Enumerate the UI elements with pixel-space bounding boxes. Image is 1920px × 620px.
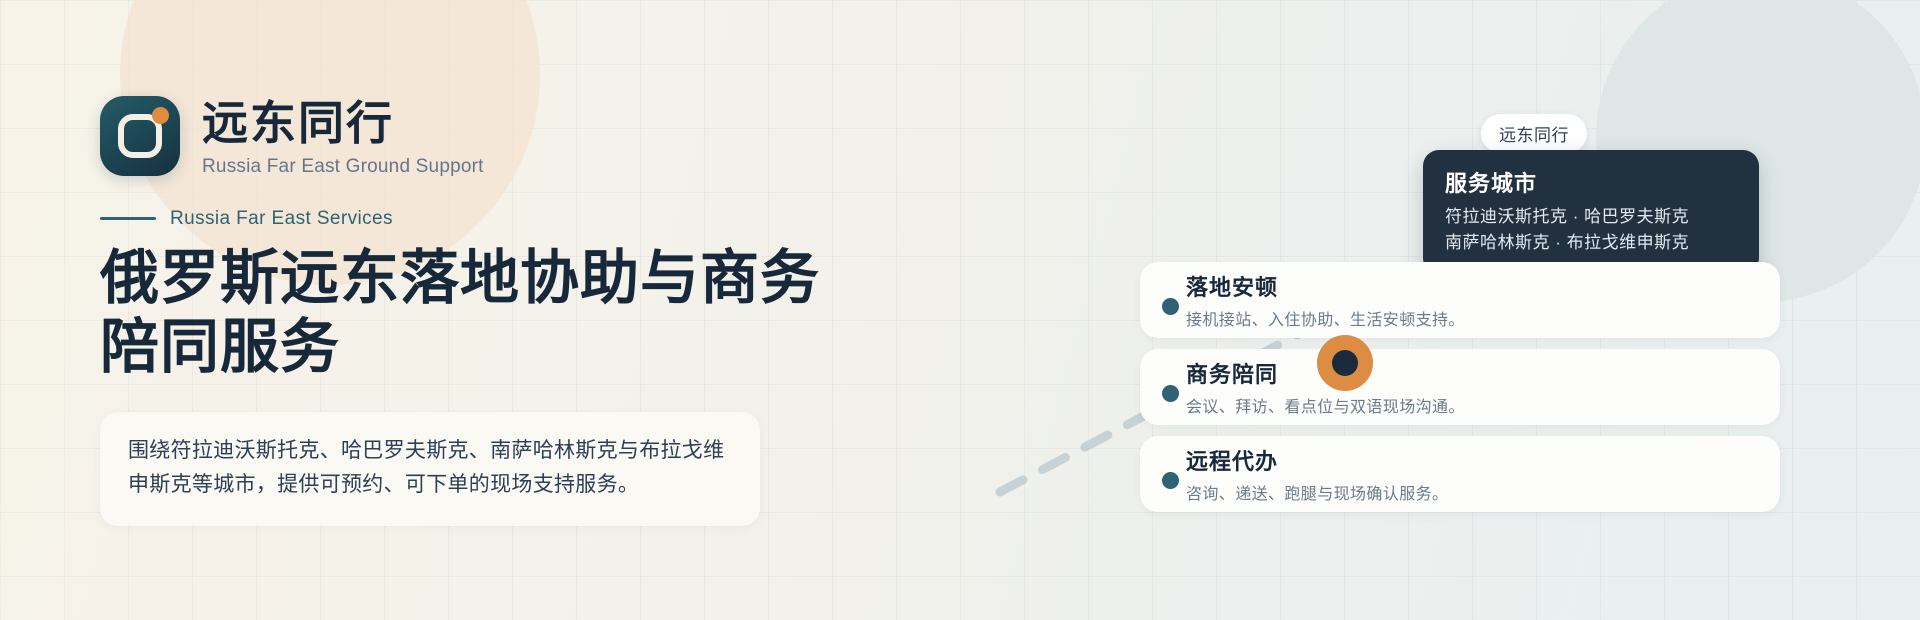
- eyebrow-dash-icon: [100, 217, 156, 220]
- service-card-title: 落地安顿: [1186, 274, 1756, 302]
- service-card-title: 商务陪同: [1186, 361, 1756, 389]
- brand-name: 远东同行: [202, 98, 484, 150]
- hero-banner: 远东同行 Russia Far East Ground Support Russ…: [0, 0, 1920, 620]
- cursor-dot-icon: [1332, 350, 1358, 376]
- tooltip-cities-line-2: 南萨哈林斯克 · 布拉戈维申斯克: [1445, 230, 1737, 256]
- bullet-dot-icon: [1162, 385, 1179, 402]
- page-title: 俄罗斯远东落地协助与商务陪同服务: [100, 244, 820, 382]
- brand-lockup: 远东同行 Russia Far East Ground Support: [100, 96, 920, 178]
- brand-text-block: 远东同行 Russia Far East Ground Support: [202, 96, 484, 178]
- service-card-title: 远程代办: [1186, 448, 1756, 476]
- service-card-list: 落地安顿 接机接站、入住协助、生活安顿支持。 商务陪同 会议、拜访、看点位与双语…: [1140, 262, 1780, 523]
- section-eyebrow: Russia Far East Services: [100, 208, 920, 230]
- brand-logo-icon: [100, 96, 180, 176]
- description-text: 围绕符拉迪沃斯托克、哈巴罗夫斯克、南萨哈林斯克与布拉戈维申斯克等城市，提供可预约…: [128, 434, 732, 502]
- tooltip-title: 服务城市: [1445, 166, 1737, 198]
- brand-chip-badge[interactable]: 远东同行: [1481, 114, 1587, 153]
- service-cities-tooltip: 服务城市 符拉迪沃斯托克 · 哈巴罗夫斯克 南萨哈林斯克 · 布拉戈维申斯克: [1423, 150, 1759, 274]
- hero-left-column: 远东同行 Russia Far East Ground Support Russ…: [100, 96, 920, 526]
- bullet-dot-icon: [1162, 298, 1179, 315]
- service-card[interactable]: 商务陪同 会议、拜访、看点位与双语现场沟通。: [1140, 349, 1780, 425]
- cursor-pointer-indicator: [1317, 335, 1373, 391]
- brand-tagline: Russia Far East Ground Support: [202, 156, 484, 178]
- service-card-description: 咨询、递送、跑腿与现场确认服务。: [1186, 480, 1756, 504]
- tooltip-cities-line-1: 符拉迪沃斯托克 · 哈巴罗夫斯克: [1445, 204, 1737, 230]
- service-card[interactable]: 远程代办 咨询、递送、跑腿与现场确认服务。: [1140, 436, 1780, 512]
- service-card-description: 接机接站、入住协助、生活安顿支持。: [1186, 306, 1756, 330]
- service-card[interactable]: 落地安顿 接机接站、入住协助、生活安顿支持。: [1140, 262, 1780, 338]
- description-card: 围绕符拉迪沃斯托克、哈巴罗夫斯克、南萨哈林斯克与布拉戈维申斯克等城市，提供可预约…: [100, 412, 760, 526]
- logo-accent-dot-icon: [152, 107, 169, 124]
- bullet-dot-icon: [1162, 472, 1179, 489]
- eyebrow-label: Russia Far East Services: [170, 208, 393, 230]
- service-card-description: 会议、拜访、看点位与双语现场沟通。: [1186, 393, 1756, 417]
